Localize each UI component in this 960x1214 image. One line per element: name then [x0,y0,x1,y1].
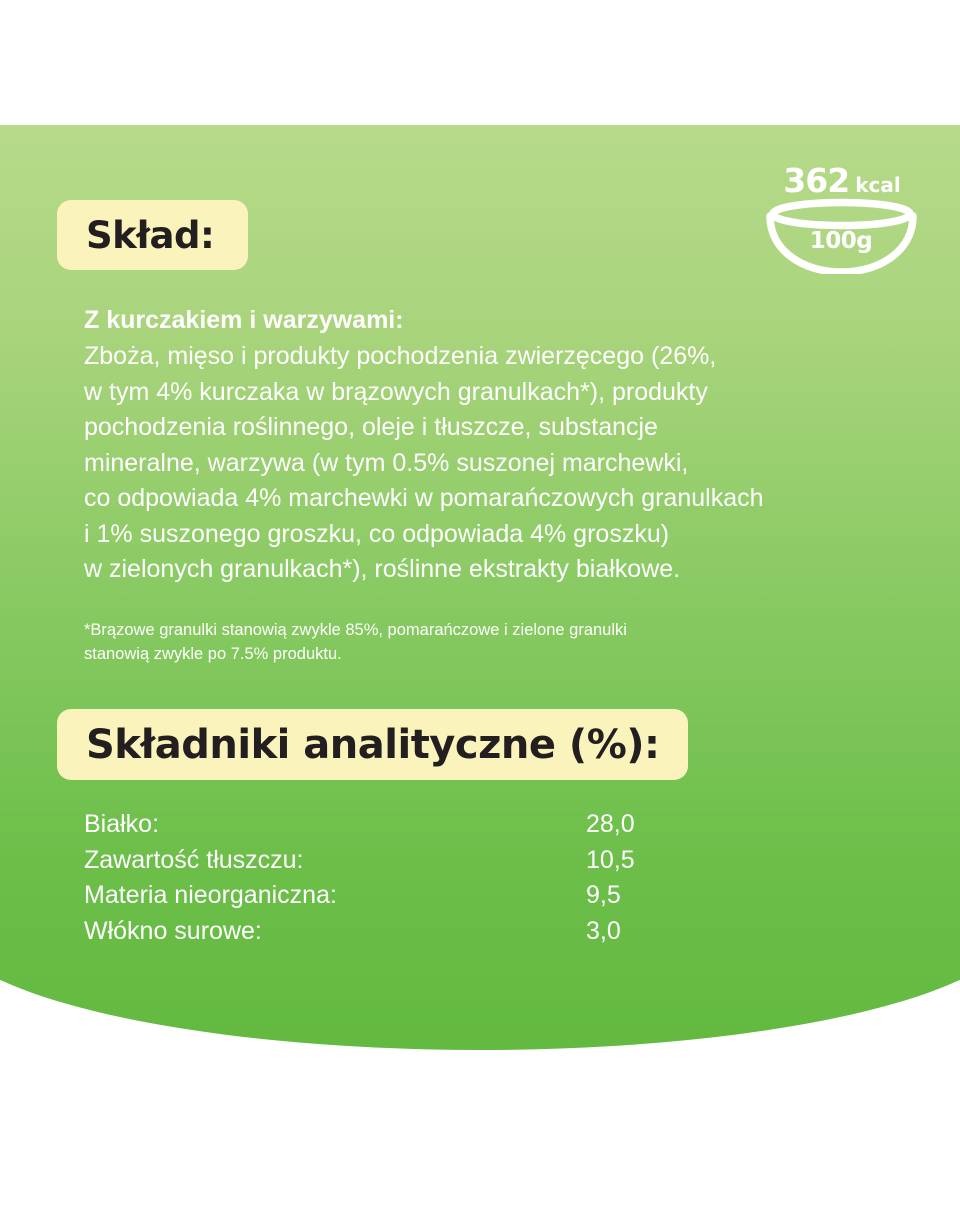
ingredients-footnote: *Brązowe granulki stanowią zwykle 85%, p… [84,618,784,666]
analytical-label: Zawartość tłuszczu: [84,846,586,875]
table-row: Białko: 28,0 [84,810,704,846]
analytical-label: Materia nieorganiczna: [84,881,586,910]
analytical-value: 3,0 [586,917,704,946]
ingredients-variant-label: Z kurczakiem i warzywami: [84,303,914,338]
table-row: Włókno surowe: 3,0 [84,917,704,953]
ingredients-heading: Skład: [57,200,248,270]
kcal-readout: 362 kcal [762,164,922,200]
ingredients-heading-label: Skład: [86,214,214,257]
kcal-unit-label: kcal [855,175,901,195]
table-row: Materia nieorganiczna: 9,5 [84,881,704,917]
kcal-badge: 362 kcal 100g [762,164,922,274]
analytical-value: 28,0 [586,810,704,839]
kcal-weight-label: 100g [762,228,920,254]
analytical-heading-label: Składniki analityczne (%): [86,722,660,768]
analytical-label: Włókno surowe: [84,917,586,946]
panel-content: 362 kcal 100g Skład: Z kurczakiem i warz… [0,0,960,1214]
analytical-constituents-table: Białko: 28,0 Zawartość tłuszczu: 10,5 Ma… [84,810,704,952]
analytical-label: Białko: [84,810,586,839]
analytical-value: 9,5 [586,881,704,910]
ingredients-body-text: Zboża, mięso i produkty pochodzenia zwie… [84,339,914,588]
analytical-value: 10,5 [586,846,704,875]
table-row: Zawartość tłuszczu: 10,5 [84,846,704,882]
ingredients-text-block: Z kurczakiem i warzywami: Zboża, mięso i… [84,303,914,588]
analytical-heading: Składniki analityczne (%): [57,709,688,780]
kcal-value: 362 [783,164,849,197]
